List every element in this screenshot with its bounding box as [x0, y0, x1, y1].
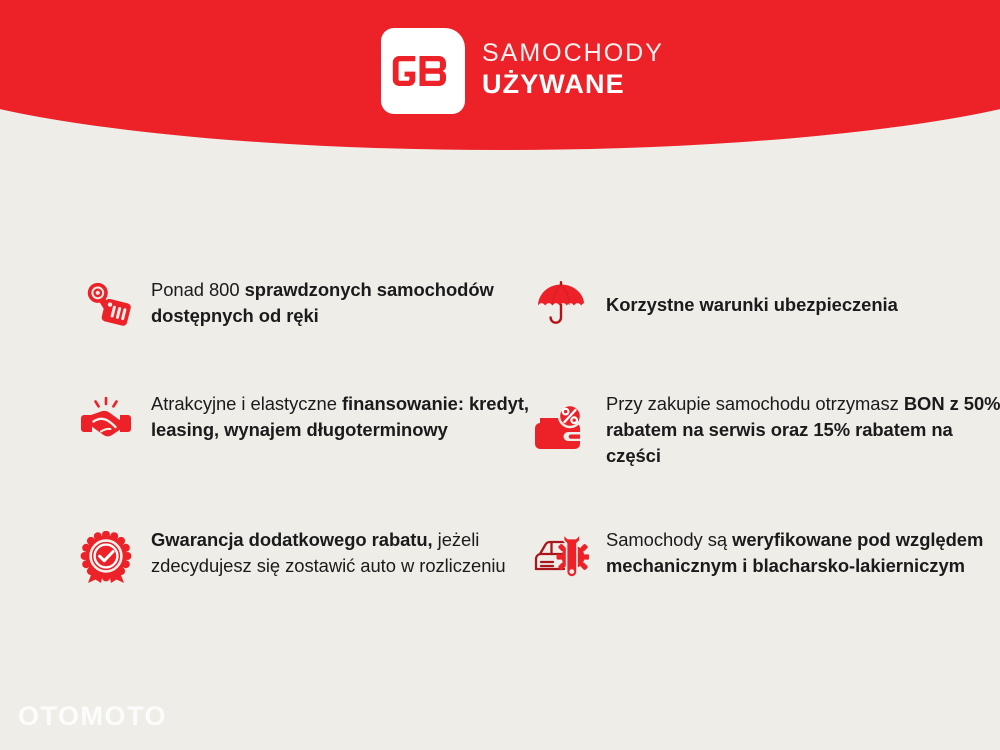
handshake-icon	[78, 389, 134, 453]
feature-list: Ponad 800 sprawdzonych samochodów dostęp…	[0, 275, 1000, 641]
feature-item-keys: Ponad 800 sprawdzonych samochodów dostęp…	[78, 275, 533, 389]
feature-item-wallet: Przy zakupie samochodu otrzymasz BON z 5…	[533, 389, 1000, 525]
feature-text-segment: Atrakcyjne i elastyczne	[151, 393, 342, 414]
feature-text-segment-bold: Korzystne warunki ubezpieczenia	[606, 294, 898, 315]
wallet-percent-icon	[533, 389, 589, 461]
feature-text-rosette: Gwarancja dodatkowego rabatu, jeżeli zde…	[151, 525, 533, 579]
feature-item-rosette: Gwarancja dodatkowego rabatu, jeżeli zde…	[78, 525, 533, 641]
gb-logo-icon	[381, 28, 465, 114]
umbrella-icon	[533, 275, 589, 336]
brand-logo: SAMOCHODY UŻYWANE	[381, 28, 664, 114]
brand-line-1: SAMOCHODY	[482, 41, 664, 66]
feature-text-keys: Ponad 800 sprawdzonych samochodów dostęp…	[151, 275, 533, 329]
promo-banner: SAMOCHODY UŻYWANE	[0, 0, 1000, 750]
feature-item-car-inspection: Samochody są weryfikowane pod względem m…	[533, 525, 1000, 641]
feature-item-handshake: Atrakcyjne i elastyczne finansowanie: kr…	[78, 389, 533, 525]
feature-text-handshake: Atrakcyjne i elastyczne finansowanie: kr…	[151, 389, 533, 443]
feature-text-car-inspection: Samochody są weryfikowane pod względem m…	[606, 525, 1000, 579]
otomoto-watermark: OTOMOTO	[18, 701, 167, 732]
car-wrench-gear-icon	[533, 525, 589, 589]
feature-item-umbrella: Korzystne warunki ubezpieczenia	[533, 275, 1000, 389]
feature-text-segment-bold: Gwarancja dodatkowego rabatu,	[151, 529, 433, 550]
feature-text-segment: Samochody są	[606, 529, 732, 550]
brand-wordmark: SAMOCHODY UŻYWANE	[482, 41, 664, 102]
feature-text-segment: Przy zakupie samochodu otrzymasz	[606, 393, 904, 414]
keys-tag-icon	[78, 275, 134, 339]
feature-text-segment: Ponad 800	[151, 279, 245, 300]
brand-line-2: UŻYWANE	[482, 71, 664, 98]
feature-text-wallet: Przy zakupie samochodu otrzymasz BON z 5…	[606, 389, 1000, 469]
rosette-check-icon	[78, 525, 134, 589]
feature-text-umbrella: Korzystne warunki ubezpieczenia	[606, 275, 898, 318]
